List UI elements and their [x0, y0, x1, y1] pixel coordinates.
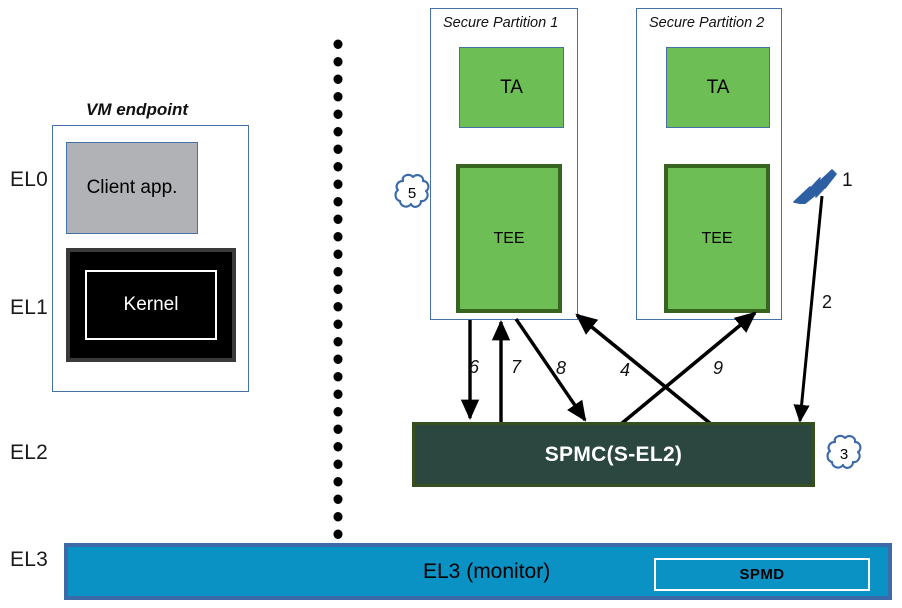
arrow-2-line: [800, 196, 822, 421]
callout-label-3: 3: [824, 433, 864, 475]
arrow-8-line: [516, 319, 585, 420]
diagram-canvas: EL0 EL1 EL2 EL3 VM endpoint Client app. …: [0, 0, 902, 608]
callout-bubble-3: 3: [824, 433, 864, 475]
lightning-bolt-icon: [792, 168, 844, 204]
arrow-label-7: 7: [511, 357, 521, 378]
arrow-label-6: 6: [469, 357, 479, 378]
spmd-box: SPMD: [654, 558, 870, 591]
callout-bubble-5: 5: [392, 172, 432, 214]
el3-monitor-label: EL3 (monitor): [423, 560, 550, 584]
arrow-connectors: [0, 0, 902, 608]
arrow-label-4: 4: [620, 360, 630, 381]
arrow-label-8: 8: [556, 358, 566, 379]
arrow-4-line: [577, 315, 711, 424]
spmc-box: SPMC(S-EL2): [412, 422, 815, 487]
el3-monitor-bar: EL3 (monitor) SPMD: [64, 543, 892, 600]
arrow-label-9: 9: [713, 358, 723, 379]
arrow-label-2: 2: [822, 292, 832, 313]
callout-label-1: 1: [842, 170, 853, 192]
callout-label-5: 5: [392, 172, 432, 214]
